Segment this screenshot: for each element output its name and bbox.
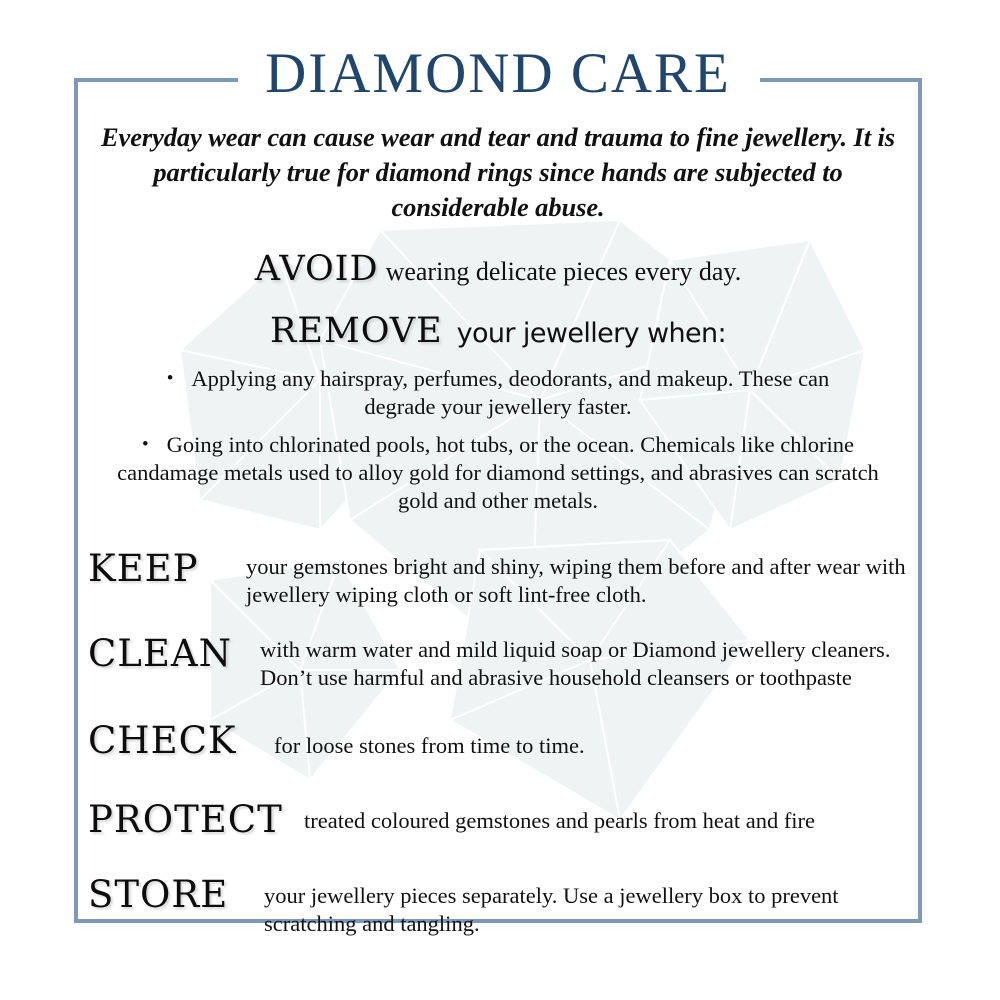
list-item: •Going into chlorinated pools, hot tubs,…	[74, 431, 922, 515]
section-check: CHECK for loose stones from time to time…	[74, 719, 922, 762]
check-keyword: CHECK	[74, 719, 274, 762]
avoid-text: wearing delicate pieces every day.	[386, 257, 742, 286]
section-store: STORE your jewellery pieces separately. …	[74, 873, 922, 937]
page-title: DIAMOND CARE	[74, 42, 922, 106]
poster-content: DIAMOND CARE Everyday wear can cause wea…	[74, 78, 922, 923]
store-text: your jewellery pieces separately. Use a …	[264, 873, 912, 937]
bullet-icon: •	[142, 434, 149, 455]
list-item-text: Applying any hairspray, perfumes, deodor…	[191, 366, 829, 419]
section-protect: PROTECT treated coloured gemstones and p…	[74, 798, 922, 841]
check-text: for loose stones from time to time.	[274, 719, 912, 760]
intro-paragraph: Everyday wear can cause wear and tear an…	[100, 120, 896, 225]
keep-text: your gemstones bright and shiny, wiping …	[246, 547, 912, 608]
avoid-keyword: AVOID	[255, 249, 379, 289]
list-item: •Applying any hairspray, perfumes, deodo…	[74, 365, 922, 421]
diamond-care-poster: DIAMOND CARE Everyday wear can cause wea…	[0, 0, 1000, 1000]
remove-text: your jewellery when:	[457, 318, 726, 349]
remove-line: REMOVEyour jewellery when:	[74, 311, 922, 351]
protect-text: treated coloured gemstones and pearls fr…	[304, 798, 912, 835]
remove-keyword: REMOVE	[270, 311, 443, 351]
clean-text: with warm water and mild liquid soap or …	[260, 632, 912, 691]
protect-keyword: PROTECT	[74, 798, 304, 841]
remove-bullet-list: •Applying any hairspray, perfumes, deodo…	[74, 365, 922, 515]
section-keep: KEEP your gemstones bright and shiny, wi…	[74, 547, 922, 608]
store-keyword: STORE	[74, 873, 264, 916]
section-clean: CLEAN with warm water and mild liquid so…	[74, 632, 922, 691]
keep-keyword: KEEP	[74, 547, 246, 590]
bullet-icon: •	[167, 368, 174, 389]
list-item-text: Going into chlorinated pools, hot tubs, …	[117, 432, 879, 513]
avoid-line: AVOIDwearing delicate pieces every day.	[74, 249, 922, 289]
clean-keyword: CLEAN	[74, 632, 260, 675]
